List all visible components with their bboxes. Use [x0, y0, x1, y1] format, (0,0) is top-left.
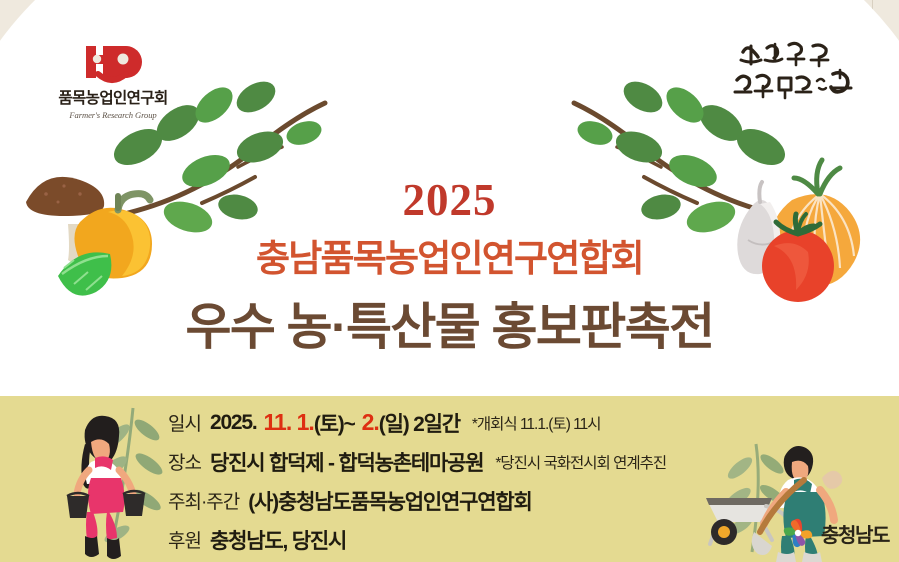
info-date-mid: (토)~ — [314, 408, 355, 438]
info-row-sponsor: 후원 충청남도, 당진시 — [168, 520, 808, 559]
province-logo-text: 충청남도 — [821, 519, 889, 548]
info-date-highlight-end: 2. — [362, 409, 379, 436]
info-date-suffix: (일) 2일간 — [379, 408, 460, 438]
info-label-date: 일시 — [168, 409, 201, 436]
fd-face-logo-icon — [80, 38, 146, 86]
poster-canvas: 품목농업인연구회 Farmer's Research Group — [0, 0, 899, 562]
province-logo: 충청남도 — [781, 518, 889, 548]
page-title-organization: 충남품목농업인연구연합회 — [0, 240, 899, 277]
info-label-sponsor: 후원 — [168, 526, 201, 553]
info-date-note: *개회식 11.1.(토) 11시 — [472, 412, 601, 434]
info-date-highlight-start: 11. 1. — [264, 409, 314, 436]
event-info-list: 일시 2025. 11. 1. (토)~ 2. (일) 2일간 *개회식 11.… — [168, 403, 808, 559]
page-title-main: 우수 농·특산물 홍보판촉전 — [0, 300, 899, 355]
info-host-value: (사)충청남도품목농업인연구연합회 — [248, 486, 531, 516]
info-place-note: *당진시 국화전시회 연계추진 — [495, 451, 666, 473]
info-sponsor-value: 충청남도, 당진시 — [210, 525, 346, 555]
chungnam-pinwheel-logo-icon — [781, 518, 815, 548]
info-place-value: 당진시 합덕제 - 합덕농촌테마공원 — [210, 447, 483, 477]
info-row-date: 일시 2025. 11. 1. (토)~ 2. (일) 2일간 *개회식 11.… — [168, 403, 808, 442]
page-title-year: 2025 — [0, 178, 899, 223]
info-label-place: 장소 — [168, 448, 201, 475]
info-date-prefix: 2025. — [210, 411, 257, 435]
info-row-place: 장소 당진시 합덕제 - 합덕농촌테마공원 *당진시 국화전시회 연계추진 — [168, 442, 808, 481]
info-label-host: 주최·주간 — [168, 487, 239, 514]
info-row-host: 주최·주간 (사)충청남도품목농업인연구연합회 — [168, 481, 808, 520]
